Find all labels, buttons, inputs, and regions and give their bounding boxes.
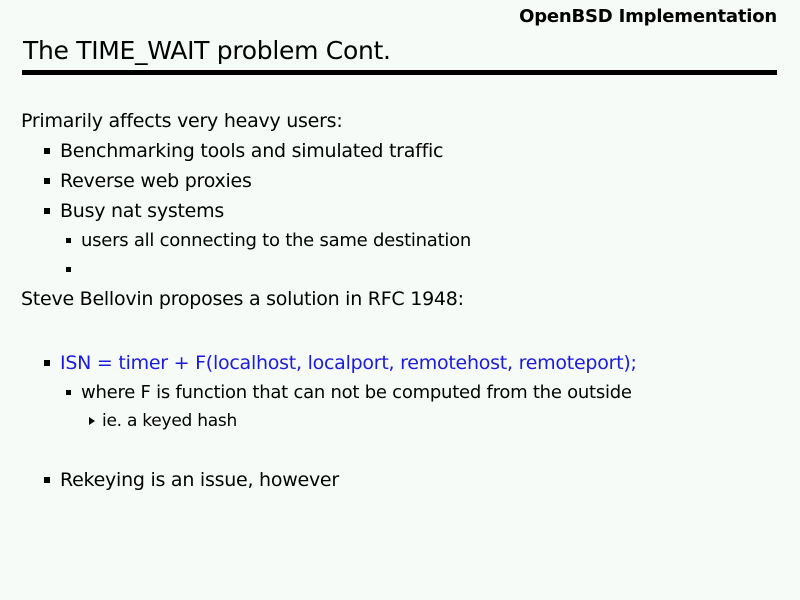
page-title: The TIME_WAIT problem Cont.	[23, 36, 391, 66]
bullet-text: Busy nat systems	[60, 200, 224, 222]
small-square-bullet-icon	[66, 238, 71, 243]
small-square-bullet-icon	[66, 267, 71, 272]
bullet-item: Benchmarking tools and simulated traffic	[0, 136, 800, 166]
slide-header: OpenBSD Implementation	[0, 6, 777, 28]
body-text: Primarily affects very heavy users:	[21, 110, 343, 132]
bullet-text: Reverse web proxies	[60, 170, 252, 192]
vertical-spacer	[0, 435, 800, 465]
triangle-bullet-icon	[89, 417, 95, 425]
small-square-bullet-icon	[66, 390, 71, 395]
vertical-spacer	[0, 314, 800, 348]
square-bullet-icon	[44, 208, 50, 214]
bullet-item: users all connecting to the same destina…	[0, 226, 800, 255]
body-line: Primarily affects very heavy users:	[0, 106, 800, 136]
bullet-item: ie. a keyed hash	[0, 407, 800, 435]
bullet-text: Rekeying is an issue, however	[60, 469, 339, 491]
slide-body: Primarily affects very heavy users: Benc…	[0, 106, 800, 495]
bullet-text: ie. a keyed hash	[102, 411, 237, 431]
bullet-item: Rekeying is an issue, however	[0, 465, 800, 495]
slide-canvas: OpenBSD Implementation The TIME_WAIT pro…	[0, 0, 800, 600]
bullet-item: where F is function that can not be comp…	[0, 378, 800, 407]
title-divider	[22, 70, 777, 75]
bullet-item-empty	[0, 255, 800, 284]
square-bullet-icon	[44, 148, 50, 154]
body-text: Steve Bellovin proposes a solution in RF…	[21, 288, 464, 310]
square-bullet-icon	[44, 477, 50, 483]
bullet-text: Benchmarking tools and simulated traffic	[60, 140, 443, 162]
bullet-item-formula: ISN = timer + F(localhost, localport, re…	[0, 348, 800, 378]
bullet-item: Reverse web proxies	[0, 166, 800, 196]
body-line: Steve Bellovin proposes a solution in RF…	[0, 284, 800, 314]
square-bullet-icon	[44, 178, 50, 184]
bullet-text: where F is function that can not be comp…	[81, 382, 632, 403]
square-bullet-icon	[44, 360, 50, 366]
bullet-text: users all connecting to the same destina…	[81, 230, 471, 251]
formula-text: ISN = timer + F(localhost, localport, re…	[60, 352, 637, 374]
bullet-item: Busy nat systems	[0, 196, 800, 226]
